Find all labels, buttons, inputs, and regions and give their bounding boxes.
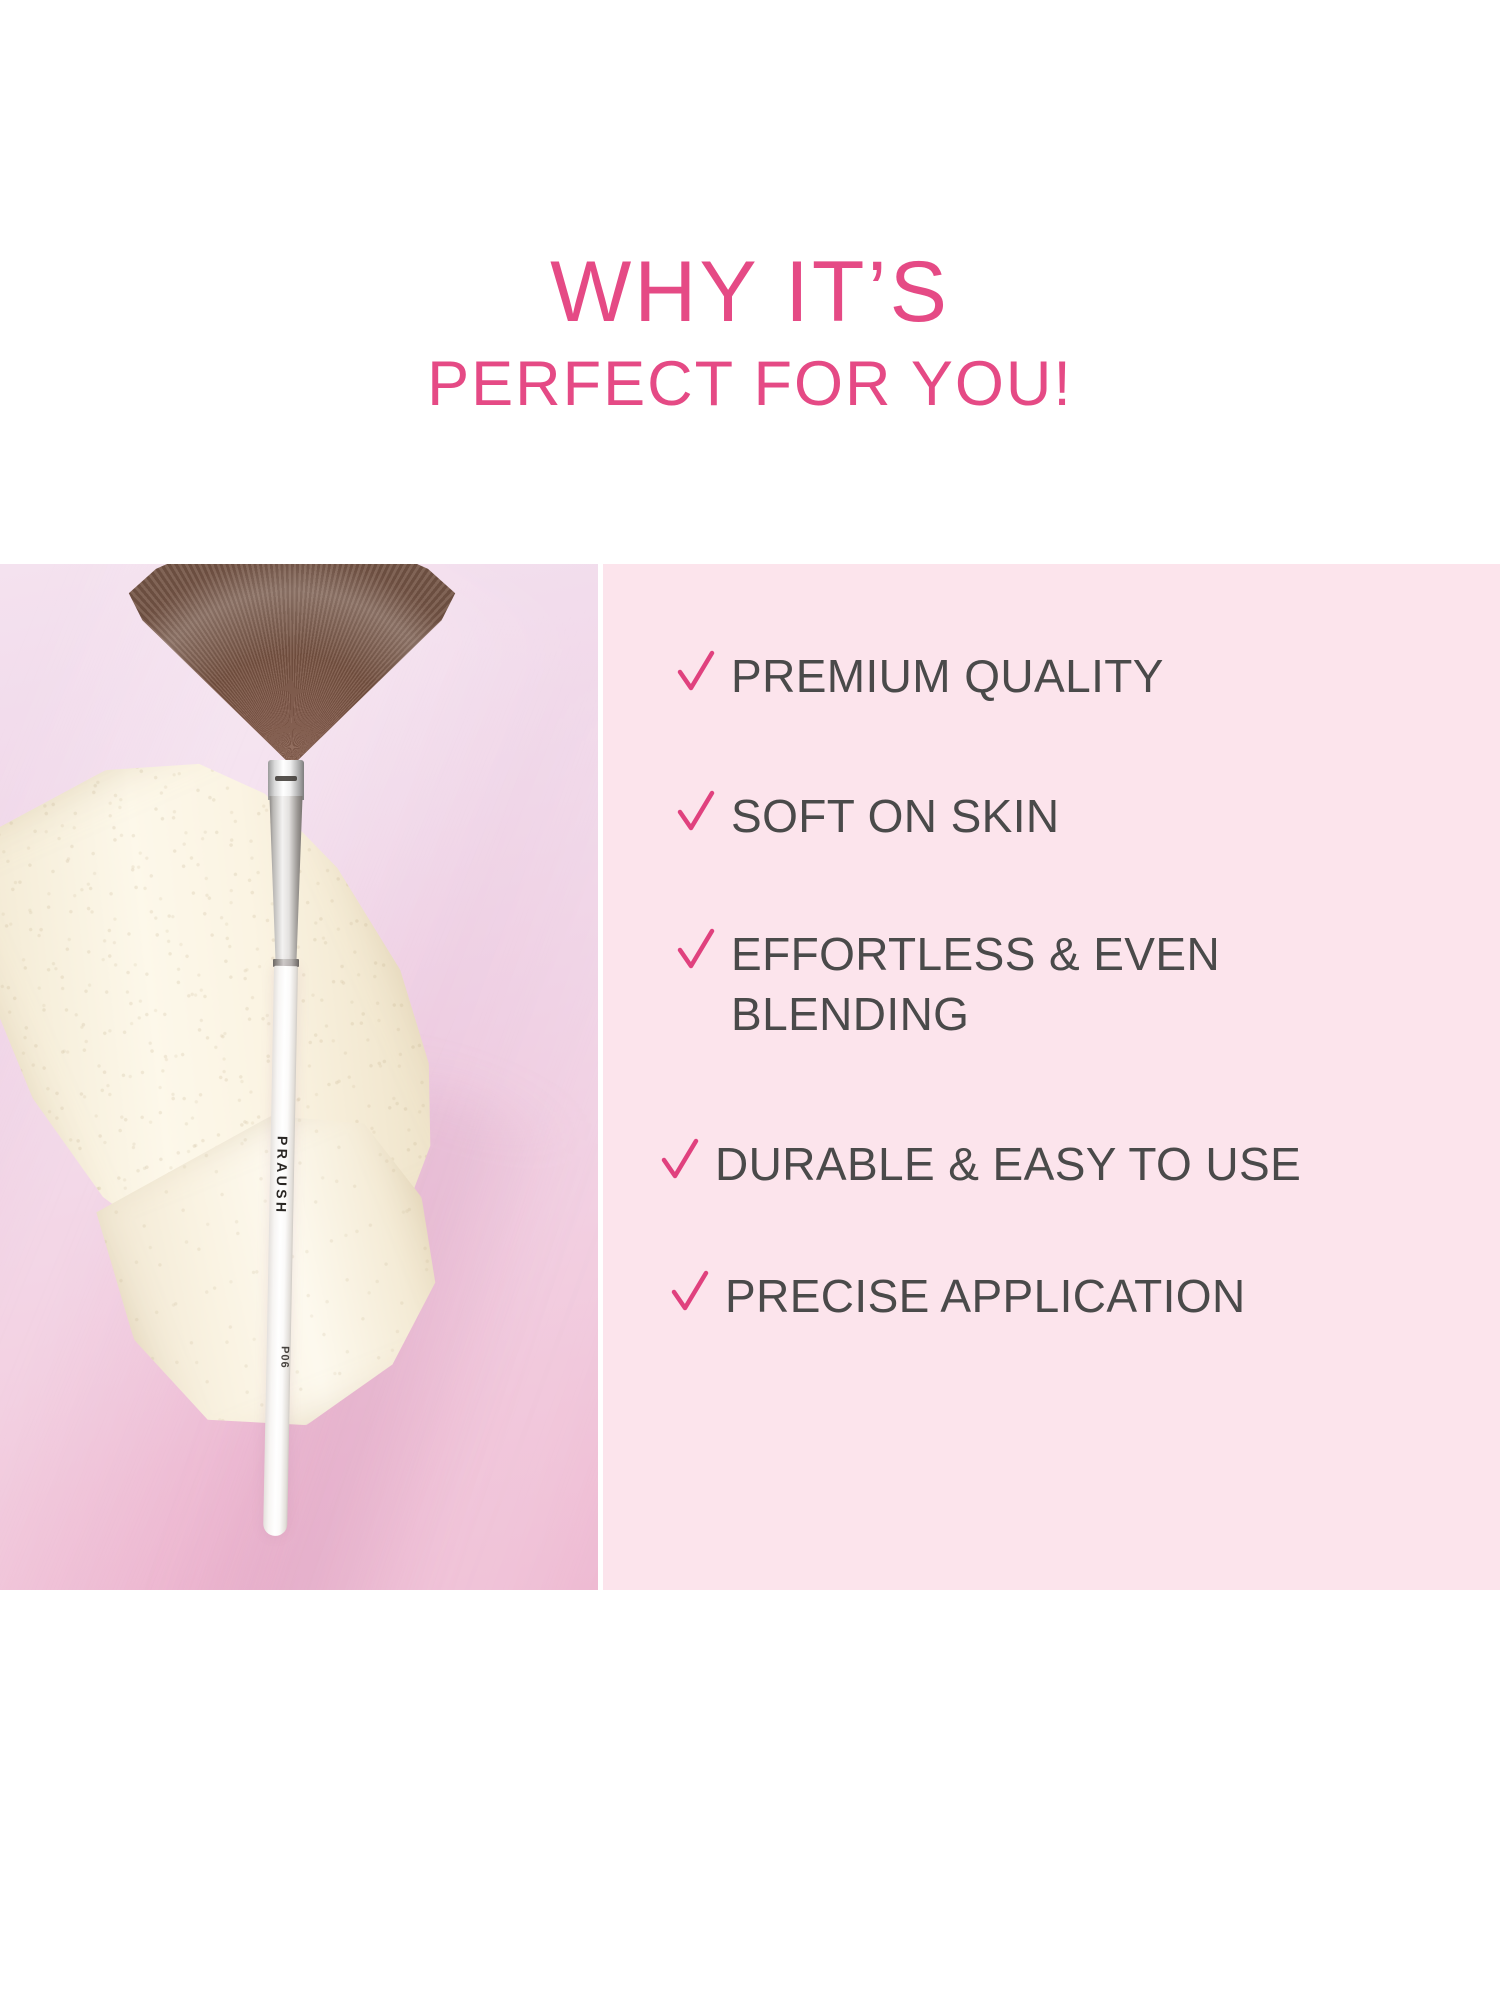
content-panels: PRAUSH P06 PREMIUM QUALITY SOFT — [0, 564, 1500, 1590]
check-icon — [671, 1268, 709, 1314]
feature-label: PREMIUM QUALITY — [731, 646, 1164, 706]
check-icon — [677, 926, 715, 972]
features-list: PREMIUM QUALITY SOFT ON SKIN EFFORTLESS … — [603, 564, 1500, 1590]
features-panel: PREMIUM QUALITY SOFT ON SKIN EFFORTLESS … — [603, 564, 1500, 1590]
feature-item-soft-on-skin: SOFT ON SKIN — [677, 786, 1060, 846]
check-icon — [677, 648, 715, 694]
feature-item-precise-application: PRECISE APPLICATION — [671, 1266, 1246, 1326]
makeup-brush: PRAUSH P06 — [0, 564, 598, 1590]
feature-label: PRECISE APPLICATION — [725, 1266, 1246, 1326]
brush-handle: PRAUSH P06 — [263, 966, 298, 1536]
feature-item-durable-easy-to-use: DURABLE & EASY TO USE — [661, 1134, 1301, 1194]
feature-item-premium-quality: PREMIUM QUALITY — [677, 646, 1164, 706]
feature-label: DURABLE & EASY TO USE — [715, 1134, 1301, 1194]
brand-label: PRAUSH — [269, 1136, 295, 1216]
feature-item-effortless-even-blending: EFFORTLESS & EVEN BLENDING — [677, 924, 1220, 1044]
feature-label: SOFT ON SKIN — [731, 786, 1060, 846]
model-code-label: P06 — [266, 1346, 290, 1369]
product-photo: PRAUSH P06 — [0, 564, 598, 1590]
brush-ferrule-neck — [268, 796, 304, 972]
check-icon — [677, 788, 715, 834]
page-title-line-1: WHY IT’S — [0, 246, 1500, 338]
feature-label: EFFORTLESS & EVEN BLENDING — [731, 924, 1220, 1044]
page-title-line-2: PERFECT FOR YOU! — [0, 348, 1500, 420]
brush-bristles-edge — [122, 564, 462, 766]
check-icon — [661, 1136, 699, 1182]
brush-bristles — [122, 564, 462, 766]
page-title: WHY IT’S PERFECT FOR YOU! — [0, 246, 1500, 420]
brush-ferrule-notch — [275, 776, 297, 781]
promo-page: WHY IT’S PERFECT FOR YOU! — [0, 0, 1500, 2000]
